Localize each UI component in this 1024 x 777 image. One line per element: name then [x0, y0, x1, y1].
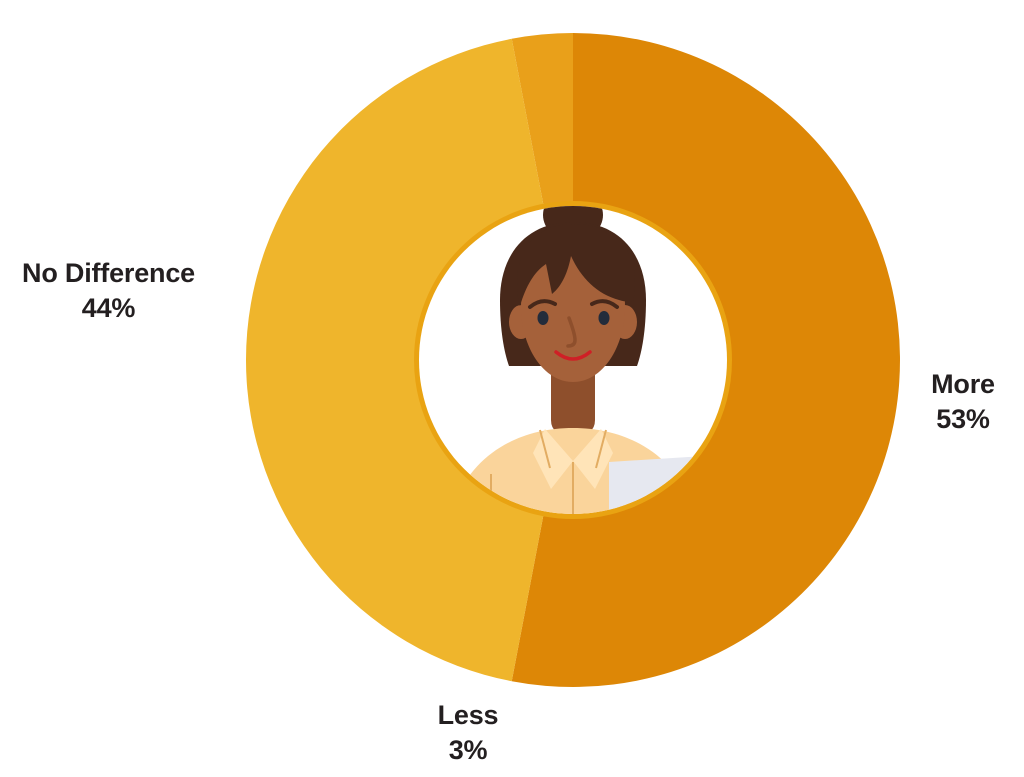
donut-chart-figure: No Difference 44% More 53% Less 3% — [0, 0, 1024, 777]
donut-chart-svg — [0, 0, 1024, 777]
slice-label-value: 44% — [6, 291, 211, 326]
slice-label-value: 53% — [912, 402, 1014, 437]
slice-label-name: Less — [400, 698, 536, 733]
slice-label-name: More — [912, 367, 1014, 402]
slice-label-value: 3% — [400, 733, 536, 768]
eye-left — [538, 311, 549, 325]
slice-label-no-difference: No Difference 44% — [6, 256, 211, 325]
slice-label-name: No Difference — [6, 256, 211, 291]
eye-right — [599, 311, 610, 325]
slice-label-less: Less 3% — [400, 698, 536, 767]
slice-label-more: More 53% — [912, 367, 1014, 436]
